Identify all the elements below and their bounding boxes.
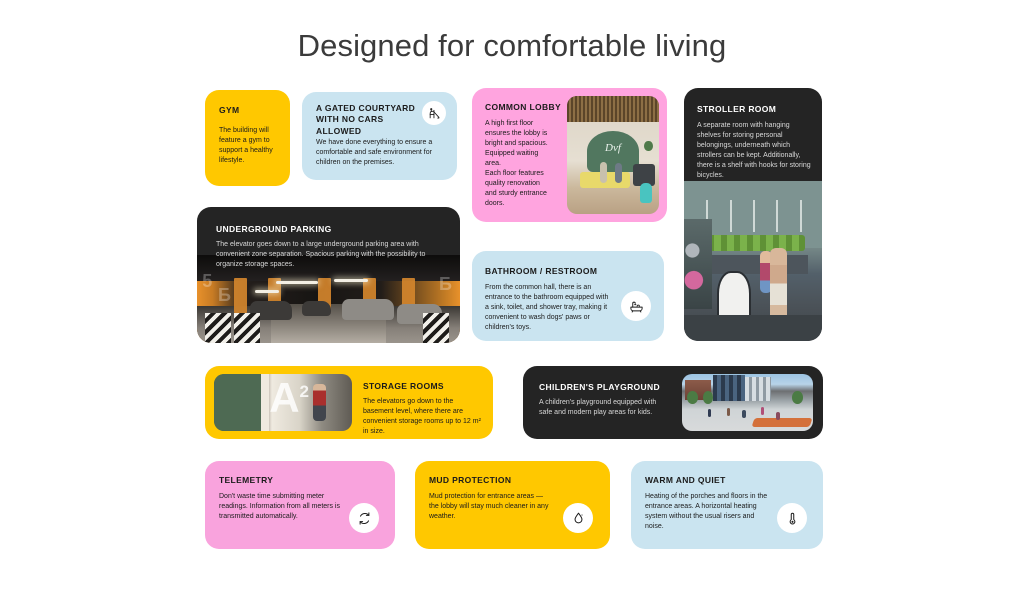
water-drop-icon (571, 511, 586, 526)
stroller-bicycles (684, 219, 712, 309)
playground-slide-icon-bubble (422, 101, 446, 125)
lobby-body-line: and sturdy entrance (485, 189, 561, 199)
stroller-hook (800, 200, 802, 232)
parking-chevron-marking (234, 313, 260, 343)
parking-lamp (334, 279, 368, 282)
card-storage-rooms-body: The elevators go down to the basement le… (363, 397, 485, 437)
thermometer-icon (785, 511, 800, 526)
card-childrens-playground-title: CHILDREN'S PLAYGROUND (539, 382, 660, 392)
lobby-person (600, 162, 606, 183)
card-gated-courtyard-title: A GATED COURTYARD WITH NO CARS ALLOWED (316, 103, 416, 137)
common-lobby-photo: Dvf (567, 96, 659, 214)
lobby-ceiling (567, 96, 659, 122)
card-stroller-room[interactable]: STROLLER ROOM A separate room with hangi… (684, 88, 822, 341)
parking-car (302, 301, 331, 316)
card-telemetry[interactable]: TELEMETRY Don't waste time submitting me… (205, 461, 395, 549)
card-bathroom-restroom[interactable]: BATHROOM / RESTROOM From the common hall… (472, 251, 664, 341)
card-gym[interactable]: GYM The building will feature a gym to s… (205, 90, 290, 186)
card-warm-and-quiet-title: WARM AND QUIET (645, 475, 726, 485)
card-gated-courtyard[interactable]: A GATED COURTYARD WITH NO CARS ALLOWED W… (302, 92, 457, 180)
playground-person (708, 409, 711, 417)
playground-slide-icon (428, 107, 441, 120)
thermometer-icon-bubble (777, 503, 807, 533)
refresh-cycle-icon-bubble (349, 503, 379, 533)
card-gym-body: The building will feature a gym to suppo… (219, 126, 281, 166)
card-warm-and-quiet[interactable]: WARM AND QUIET Heating of the porches an… (631, 461, 823, 549)
playground-building (713, 375, 744, 401)
card-mud-protection-title: MUD PROTECTION (429, 475, 511, 485)
card-bathroom-restroom-title: BATHROOM / RESTROOM (485, 266, 597, 276)
card-telemetry-body: Don't waste time submitting meter readin… (219, 492, 349, 522)
card-mud-protection-body: Mud protection for entrance areas — the … (429, 492, 553, 522)
playground-person (761, 407, 764, 415)
stroller-hook (776, 200, 778, 232)
card-common-lobby-title: COMMON LOBBY (485, 102, 561, 112)
card-common-lobby[interactable]: COMMON LOBBY A high first floor ensures … (472, 88, 667, 222)
lobby-bin (640, 183, 652, 203)
refresh-cycle-icon (357, 511, 372, 526)
card-underground-parking[interactable]: 5 Б Б UNDERGROUND PARKING The elevator g… (197, 207, 460, 343)
playground-tree (687, 391, 697, 404)
bathtub-icon-bubble (621, 291, 651, 321)
stroller-shelf (698, 255, 808, 274)
playground-person (727, 408, 730, 416)
card-stroller-room-title: STROLLER ROOM (697, 104, 776, 114)
stroller-planter (701, 235, 806, 251)
storage-door (261, 374, 269, 431)
card-underground-parking-title: UNDERGROUND PARKING (216, 224, 332, 234)
lobby-body-line: A high first floor (485, 119, 561, 129)
storage-sign-sup: 2 (300, 382, 309, 401)
playground-building (745, 377, 771, 401)
stroller-adult (770, 248, 788, 325)
childrens-playground-photo (682, 374, 813, 431)
lobby-body-line: doors. (485, 199, 561, 209)
stroller-hook (730, 200, 732, 232)
card-mud-protection[interactable]: MUD PROTECTION Mud protection for entran… (415, 461, 610, 549)
playground-tree (703, 391, 713, 404)
storage-sign: A2 (269, 377, 309, 419)
card-gated-courtyard-body: We have done everything to ensure a comf… (316, 138, 444, 168)
parking-level-number: 5 (202, 271, 212, 292)
parking-chevron-marking (423, 313, 449, 343)
card-gym-title: GYM (219, 105, 239, 115)
card-bathroom-restroom-body: From the common hall, there is an entran… (485, 283, 611, 333)
card-underground-parking-body: The elevator goes down to a large underg… (216, 240, 436, 270)
playground-path (751, 418, 812, 427)
card-storage-rooms[interactable]: A2 STORAGE ROOMS The elevators go down t… (205, 366, 493, 439)
card-warm-and-quiet-body: Heating of the porches and floors in the… (645, 492, 771, 532)
lobby-body-line: ensures the lobby is (485, 129, 561, 139)
card-storage-rooms-title: STORAGE ROOMS (363, 381, 444, 391)
stroller-room-photo (684, 181, 822, 341)
lobby-person (615, 163, 622, 183)
parking-level-number: Б (439, 274, 452, 295)
parking-level-number: Б (218, 285, 231, 306)
parking-chevron-marking (205, 313, 231, 343)
page-title: Designed for comfortable living (0, 28, 1024, 64)
storage-person (313, 384, 325, 420)
card-common-lobby-body: A high first floor ensures the lobby is … (485, 119, 561, 208)
lobby-body-line: Each floor features (485, 169, 561, 179)
lobby-body-line: bright and spacious. (485, 139, 561, 149)
parking-lamp (255, 290, 279, 293)
water-drop-icon-bubble (563, 503, 593, 533)
card-stroller-room-body: A separate room with hanging shelves for… (697, 121, 812, 181)
lobby-body-line: quality renovation (485, 179, 561, 189)
playground-person (742, 410, 745, 418)
storage-wall (214, 374, 261, 431)
lobby-body-line: Equipped waiting (485, 149, 561, 159)
stroller-floor (684, 315, 822, 341)
parking-car (342, 299, 395, 320)
stroller-hook (753, 200, 755, 232)
card-childrens-playground-body: A children's playground equipped with sa… (539, 398, 671, 418)
parking-column (234, 278, 247, 313)
lobby-plant (644, 141, 652, 152)
playground-person (776, 412, 779, 420)
storage-rooms-photo: A2 (214, 374, 352, 431)
infographic-page: Designed for comfortable living GYM The … (0, 0, 1024, 597)
card-childrens-playground[interactable]: CHILDREN'S PLAYGROUND A children's playg… (523, 366, 823, 439)
lobby-body-line: area. (485, 159, 561, 169)
bathtub-icon (629, 299, 644, 314)
card-telemetry-title: TELEMETRY (219, 475, 273, 485)
lobby-logo: Dvf (605, 142, 621, 154)
parking-lamp (276, 281, 318, 284)
playground-tree (792, 391, 802, 404)
